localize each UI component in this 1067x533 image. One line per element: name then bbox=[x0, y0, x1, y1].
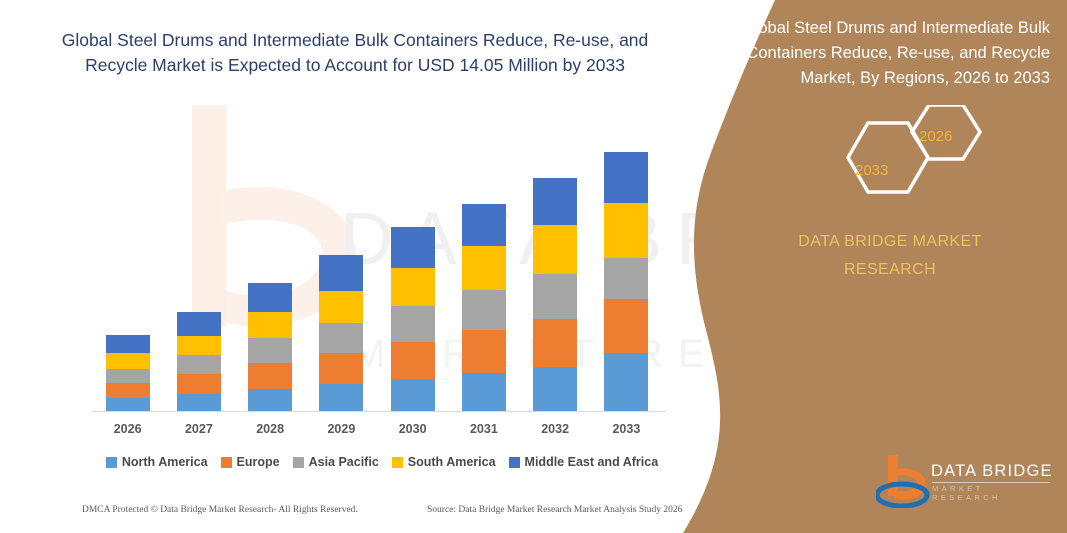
bar-column-2026 bbox=[106, 335, 150, 412]
bar-segment bbox=[391, 379, 435, 412]
bar-column-2030 bbox=[391, 227, 435, 412]
right-panel-title: Global Steel Drums and Intermediate Bulk… bbox=[724, 16, 1050, 91]
legend-swatch-icon bbox=[106, 457, 117, 468]
bar-segment bbox=[248, 389, 292, 412]
bar-segment bbox=[462, 290, 506, 330]
bar-segment bbox=[177, 394, 221, 412]
bar-segment bbox=[177, 336, 221, 355]
bar-segment bbox=[462, 246, 506, 290]
bar-segment bbox=[106, 369, 150, 383]
bar-segment bbox=[604, 353, 648, 412]
x-axis-label-2028: 2028 bbox=[240, 422, 300, 436]
bar-segment bbox=[106, 383, 150, 398]
x-axis-label-2033: 2033 bbox=[596, 422, 656, 436]
legend-label: Middle East and Africa bbox=[525, 455, 659, 469]
brand-line-1: DATA BRIDGE MARKET bbox=[798, 233, 982, 250]
x-axis-line bbox=[92, 411, 666, 412]
bar-segment bbox=[533, 178, 577, 225]
hexagon-2026-label: 2026 bbox=[919, 128, 952, 145]
bar-segment bbox=[319, 291, 363, 323]
x-axis-label-2027: 2027 bbox=[169, 422, 229, 436]
right-panel-content: Global Steel Drums and Intermediate Bulk… bbox=[700, 0, 1067, 533]
legend-label: South America bbox=[408, 455, 496, 469]
page-title: Global Steel Drums and Intermediate Bulk… bbox=[60, 28, 650, 78]
infographic-canvas: DATA BRIDGE MARKET RESEARCH Global Steel… bbox=[0, 0, 1067, 533]
bar-segment bbox=[248, 283, 292, 312]
bar-segment bbox=[319, 255, 363, 291]
bar-segment bbox=[391, 227, 435, 268]
x-axis-label-2030: 2030 bbox=[383, 422, 443, 436]
chart-legend: North AmericaEuropeAsia PacificSouth Ame… bbox=[92, 455, 672, 469]
logo-wordmark: DATA BRIDGE bbox=[931, 462, 1053, 481]
bar-segment bbox=[533, 367, 577, 412]
legend-swatch-icon bbox=[293, 457, 304, 468]
footer-copyright: DMCA Protected © Data Bridge Market Rese… bbox=[82, 505, 358, 515]
bar-segment bbox=[319, 384, 363, 412]
bar-segment bbox=[106, 353, 150, 369]
legend-item[interactable]: North America bbox=[106, 455, 208, 469]
bar-segment bbox=[248, 363, 292, 389]
legend-item[interactable]: Middle East and Africa bbox=[509, 455, 659, 469]
bar-segment bbox=[604, 299, 648, 353]
bar-segment bbox=[533, 225, 577, 274]
bar-segment bbox=[248, 338, 292, 363]
bar-segment bbox=[319, 323, 363, 353]
legend-label: North America bbox=[122, 455, 208, 469]
chart-panel: Global Steel Drums and Intermediate Bulk… bbox=[0, 0, 700, 533]
legend-item[interactable]: Asia Pacific bbox=[293, 455, 379, 469]
legend-item[interactable]: Europe bbox=[221, 455, 280, 469]
x-axis-label-2032: 2032 bbox=[525, 422, 585, 436]
right-panel-brand: DATA BRIDGE MARKET RESEARCH bbox=[730, 228, 1050, 284]
legend-label: Europe bbox=[237, 455, 280, 469]
hexagon-badges bbox=[700, 105, 1067, 210]
bar-column-2031 bbox=[462, 204, 506, 412]
logo-subtitle: MARKET RESEARCH bbox=[932, 484, 1056, 502]
logo-divider bbox=[932, 482, 1050, 483]
legend-swatch-icon bbox=[392, 457, 403, 468]
legend-swatch-icon bbox=[509, 457, 520, 468]
bar-segment bbox=[462, 373, 506, 412]
footer-source: Source: Data Bridge Market Research Mark… bbox=[427, 505, 682, 515]
bar-segment bbox=[533, 319, 577, 367]
bar-column-2033 bbox=[604, 152, 648, 412]
bar-segment bbox=[319, 353, 363, 384]
legend-swatch-icon bbox=[221, 457, 232, 468]
x-axis-labels: 20262027202820292030203120322033 bbox=[92, 422, 662, 444]
bar-segment bbox=[391, 306, 435, 342]
hexagon-2033-label: 2033 bbox=[855, 162, 888, 179]
legend-item[interactable]: South America bbox=[392, 455, 496, 469]
x-axis-label-2029: 2029 bbox=[311, 422, 371, 436]
stacked-bar-chart-plot bbox=[92, 130, 662, 412]
brand-line-2: RESEARCH bbox=[844, 261, 936, 278]
legend-label: Asia Pacific bbox=[309, 455, 379, 469]
bar-segment bbox=[391, 342, 435, 379]
bar-segment bbox=[533, 274, 577, 319]
bar-column-2032 bbox=[533, 178, 577, 412]
bar-segment bbox=[177, 355, 221, 374]
bar-segment bbox=[106, 398, 150, 412]
bar-segment bbox=[248, 312, 292, 338]
hexagon-2033-shape bbox=[848, 123, 928, 192]
x-axis-label-2031: 2031 bbox=[454, 422, 514, 436]
data-bridge-logo: DATA BRIDGE MARKET RESEARCH bbox=[876, 452, 1056, 514]
bar-segment bbox=[391, 268, 435, 306]
bar-column-2029 bbox=[319, 255, 363, 412]
data-bridge-logo-mark-icon bbox=[876, 452, 931, 508]
bar-segment bbox=[462, 330, 506, 373]
x-axis-label-2026: 2026 bbox=[98, 422, 158, 436]
bar-segment bbox=[177, 312, 221, 336]
bar-segment bbox=[177, 374, 221, 394]
bar-column-2027 bbox=[177, 312, 221, 412]
bar-segment bbox=[604, 258, 648, 299]
bar-segment bbox=[462, 204, 506, 246]
bar-column-2028 bbox=[248, 283, 292, 412]
bar-segment bbox=[604, 152, 648, 203]
bar-segment bbox=[604, 203, 648, 258]
bar-segment bbox=[106, 335, 150, 353]
